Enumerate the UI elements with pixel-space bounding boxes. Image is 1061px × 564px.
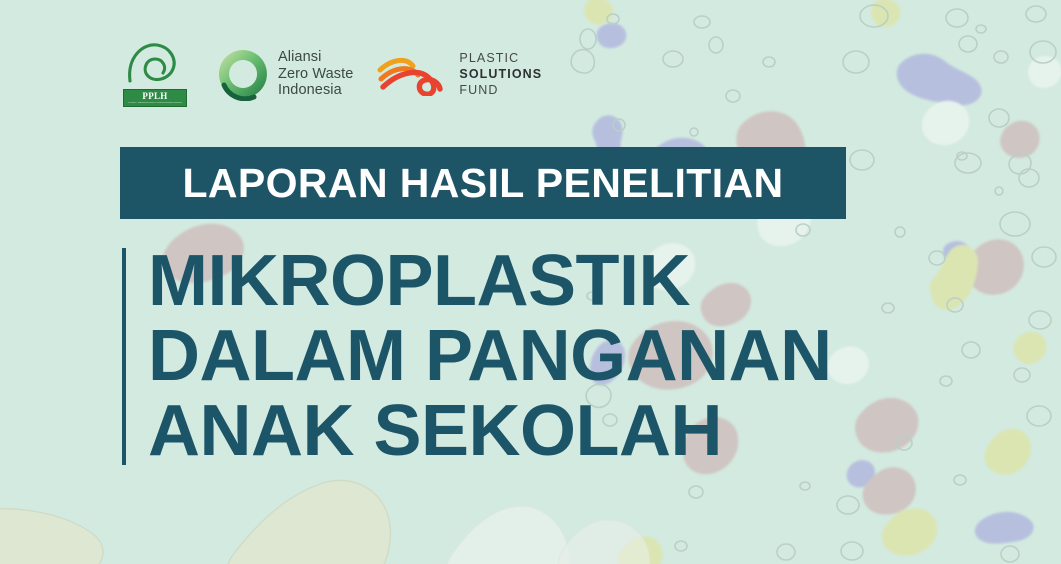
azwi-wordmark: Aliansi Zero Waste Indonesia xyxy=(278,49,353,99)
chip-shape-right-2 xyxy=(559,520,651,564)
title-accent-rule xyxy=(122,248,126,465)
pplh-plate-sub: PUSAT PENDIDIKAN LINGKUNGAN HIDUP xyxy=(128,102,182,105)
aliansi-zero-waste-indonesia-logo: Aliansi Zero Waste Indonesia xyxy=(216,36,353,112)
psf-wordmark: PLASTIC SOLUTIONS FUND xyxy=(459,50,542,98)
pplh-plate-main: PPLH xyxy=(128,92,182,101)
report-type-label: LAPORAN HASIL PENELITIAN xyxy=(182,163,783,204)
psf-line-1: PLASTIC xyxy=(459,50,542,66)
azwi-line-3: Indonesia xyxy=(278,82,353,99)
cover-title-block: MIKROPLASTIK DALAM PANGANAN ANAK SEKOLAH xyxy=(122,248,832,465)
report-cover: PPLH PUSAT PENDIDIKAN LINGKUNGAN HIDUP A… xyxy=(0,0,1061,564)
title-line-3: ANAK SEKOLAH xyxy=(148,398,832,464)
chip-shape-center xyxy=(227,480,390,564)
plastic-solutions-fund-logo: PLASTIC SOLUTIONS FUND xyxy=(377,36,542,112)
title-lines: MIKROPLASTIK DALAM PANGANAN ANAK SEKOLAH xyxy=(148,248,832,465)
psf-line-2: SOLUTIONS xyxy=(459,66,542,82)
chip-shape-left xyxy=(0,509,103,564)
chip-shape-right xyxy=(447,506,570,564)
azwi-line-2: Zero Waste xyxy=(278,66,353,83)
title-line-2: DALAM PANGANAN xyxy=(148,323,832,389)
logo-row: PPLH PUSAT PENDIDIKAN LINGKUNGAN HIDUP A… xyxy=(118,36,542,112)
title-line-1: MIKROPLASTIK xyxy=(148,248,832,314)
pplh-nameplate: PPLH PUSAT PENDIDIKAN LINGKUNGAN HIDUP xyxy=(123,89,187,107)
green-spiral-icon xyxy=(123,41,187,87)
orange-wave-icon xyxy=(377,52,451,96)
report-type-banner: LAPORAN HASIL PENELITIAN xyxy=(120,147,846,219)
green-ring-icon xyxy=(216,47,270,101)
psf-line-3: FUND xyxy=(459,82,542,98)
azwi-line-1: Aliansi xyxy=(278,49,353,66)
pplh-bali-logo: PPLH PUSAT PENDIDIKAN LINGKUNGAN HIDUP xyxy=(118,36,192,112)
